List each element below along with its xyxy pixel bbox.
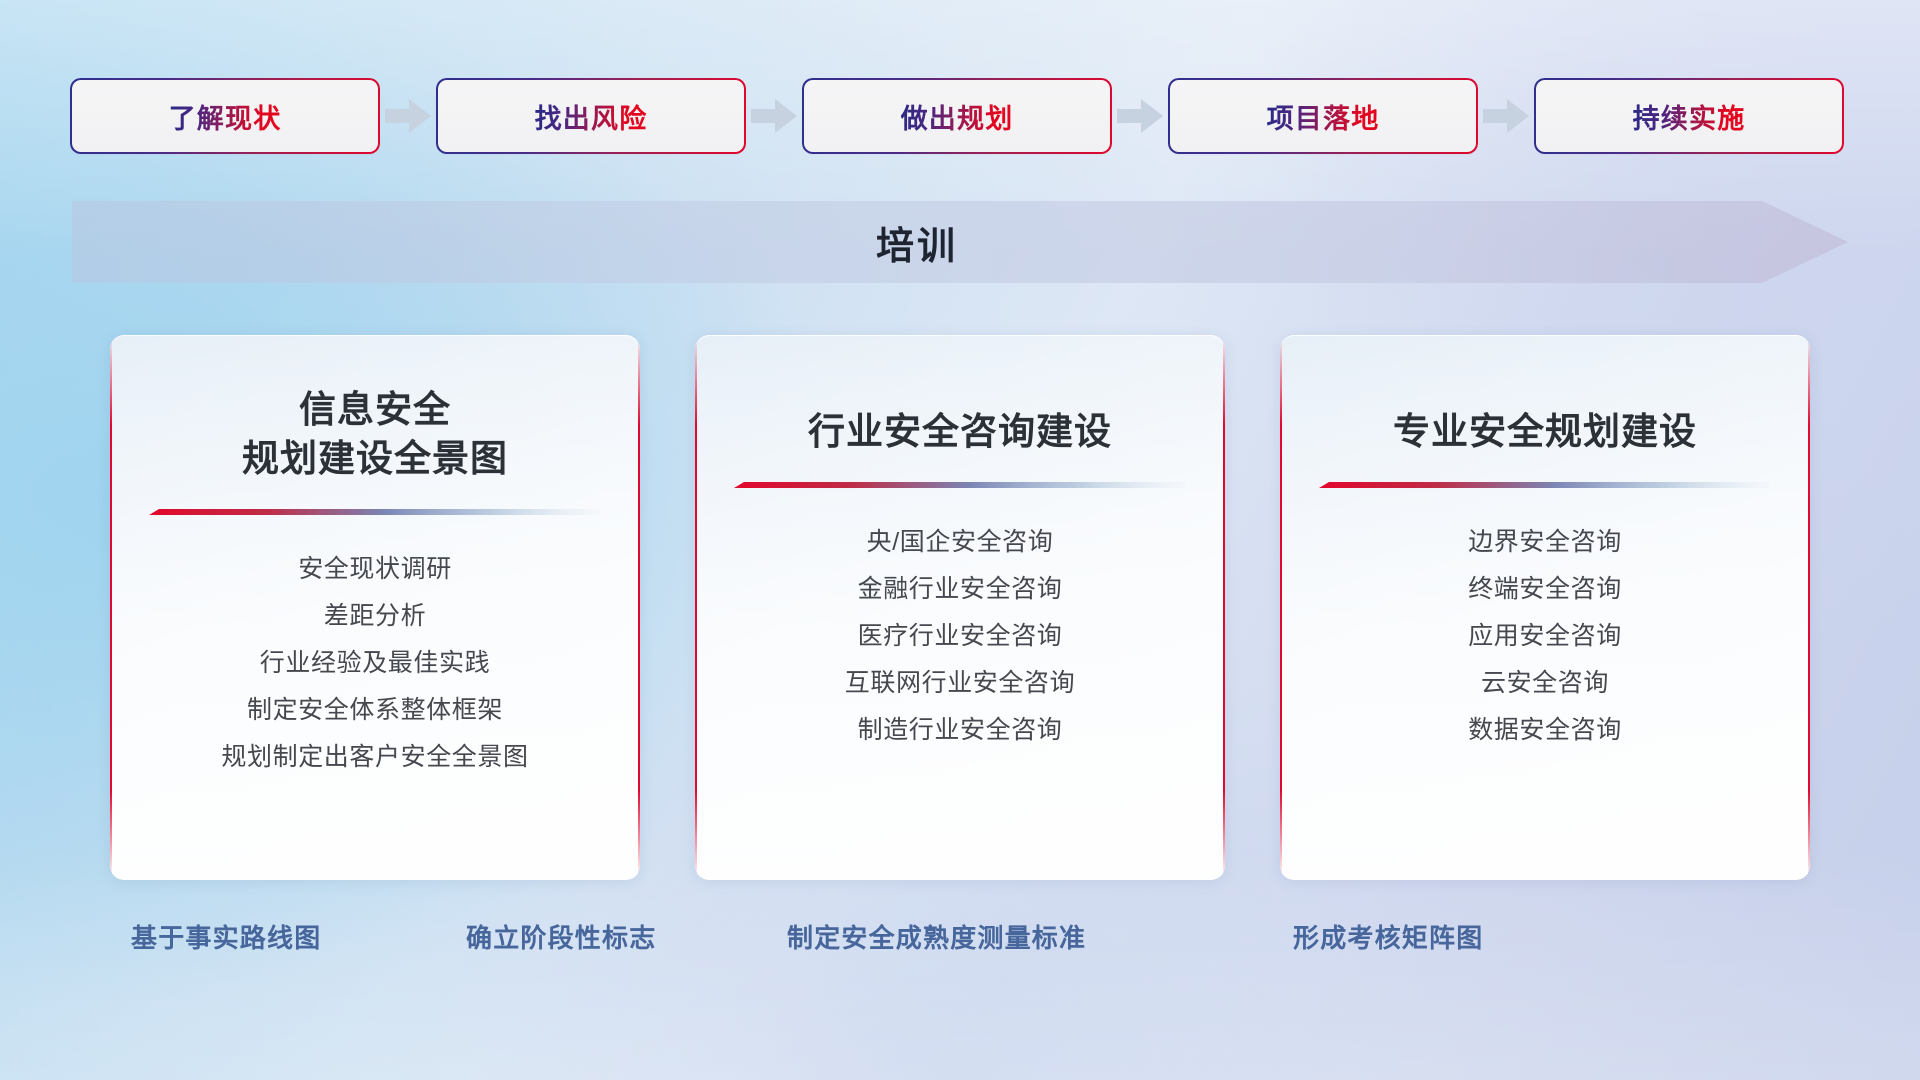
card-edge-right	[1223, 340, 1225, 875]
card-2[interactable]: 行业安全咨询建设 央/国企安全咨询 金融行业安全咨询 医疗行业安全咨询	[695, 335, 1225, 880]
list-item: 金融行业安全咨询	[717, 566, 1203, 613]
step-label: 做出规划	[901, 97, 1014, 136]
bottom-label-row: 基于事实路线图 确立阶段性标志 制定安全成熟度测量标准 形成考核矩阵图	[0, 918, 1920, 966]
bottom-label-2: 确立阶段性标志	[466, 918, 656, 955]
right-arrow-icon	[1476, 96, 1536, 136]
list-item: 边界安全咨询	[1302, 519, 1788, 566]
step-label: 项目落地	[1267, 97, 1380, 136]
card-title: 专业安全规划建设	[1280, 407, 1810, 456]
step-box-3[interactable]: 做出规划	[804, 80, 1110, 152]
card-row: 信息安全 规划建设全景图 安全现状调研 差距分析 行业经验及最佳实践	[110, 335, 1810, 880]
list-item: 医疗行业安全咨询	[717, 613, 1203, 660]
step-box-2[interactable]: 找出风险	[438, 80, 744, 152]
list-item: 制定安全体系整体框架	[132, 687, 618, 734]
list-item: 央/国企安全咨询	[717, 519, 1203, 566]
list-item: 制造行业安全咨询	[717, 707, 1203, 754]
card-title: 行业安全咨询建设	[695, 407, 1225, 456]
gradient-rule-icon	[149, 509, 601, 520]
list-item: 差距分析	[132, 593, 618, 640]
card-list: 央/国企安全咨询 金融行业安全咨询 医疗行业安全咨询 互联网行业安全咨询 制造行…	[695, 519, 1225, 754]
gradient-rule-icon	[1319, 482, 1771, 493]
list-item: 规划制定出客户安全全景图	[132, 734, 618, 781]
right-arrow-icon	[1110, 96, 1170, 136]
list-item: 应用安全咨询	[1302, 613, 1788, 660]
step-box-5[interactable]: 持续实施	[1536, 80, 1842, 152]
bottom-label-3: 制定安全成熟度测量标准	[787, 918, 1086, 955]
right-arrow-icon	[378, 96, 438, 136]
training-banner: 培训	[72, 201, 1848, 283]
gradient-rule-icon	[734, 482, 1186, 493]
list-item: 互联网行业安全咨询	[717, 660, 1203, 707]
step-label: 持续实施	[1633, 97, 1746, 136]
step-box-4[interactable]: 项目落地	[1170, 80, 1476, 152]
list-item: 行业经验及最佳实践	[132, 640, 618, 687]
card-edge-right	[638, 340, 640, 875]
card-title: 信息安全 规划建设全景图	[110, 385, 640, 483]
process-step-row: 了解现状 找出风险 做出规划 项目落地 持续实施	[72, 78, 1848, 154]
card-list: 边界安全咨询 终端安全咨询 应用安全咨询 云安全咨询 数据安全咨询	[1280, 519, 1810, 754]
bottom-label-4: 形成考核矩阵图	[1293, 918, 1483, 955]
list-item: 云安全咨询	[1302, 660, 1788, 707]
step-label: 找出风险	[535, 97, 648, 136]
card-3[interactable]: 专业安全规划建设 边界安全咨询 终端安全咨询 应用安全咨询 云安全	[1280, 335, 1810, 880]
bottom-label-1: 基于事实路线图	[131, 918, 321, 955]
banner-title: 培训	[72, 201, 1762, 283]
step-label: 了解现状	[169, 97, 282, 136]
list-item: 数据安全咨询	[1302, 707, 1788, 754]
card-1[interactable]: 信息安全 规划建设全景图 安全现状调研 差距分析 行业经验及最佳实践	[110, 335, 640, 880]
card-edge-right	[1808, 340, 1810, 875]
list-item: 安全现状调研	[132, 546, 618, 593]
card-list: 安全现状调研 差距分析 行业经验及最佳实践 制定安全体系整体框架 规划制定出客户…	[110, 546, 640, 781]
list-item: 终端安全咨询	[1302, 566, 1788, 613]
right-arrow-icon	[744, 96, 804, 136]
step-box-1[interactable]: 了解现状	[72, 80, 378, 152]
